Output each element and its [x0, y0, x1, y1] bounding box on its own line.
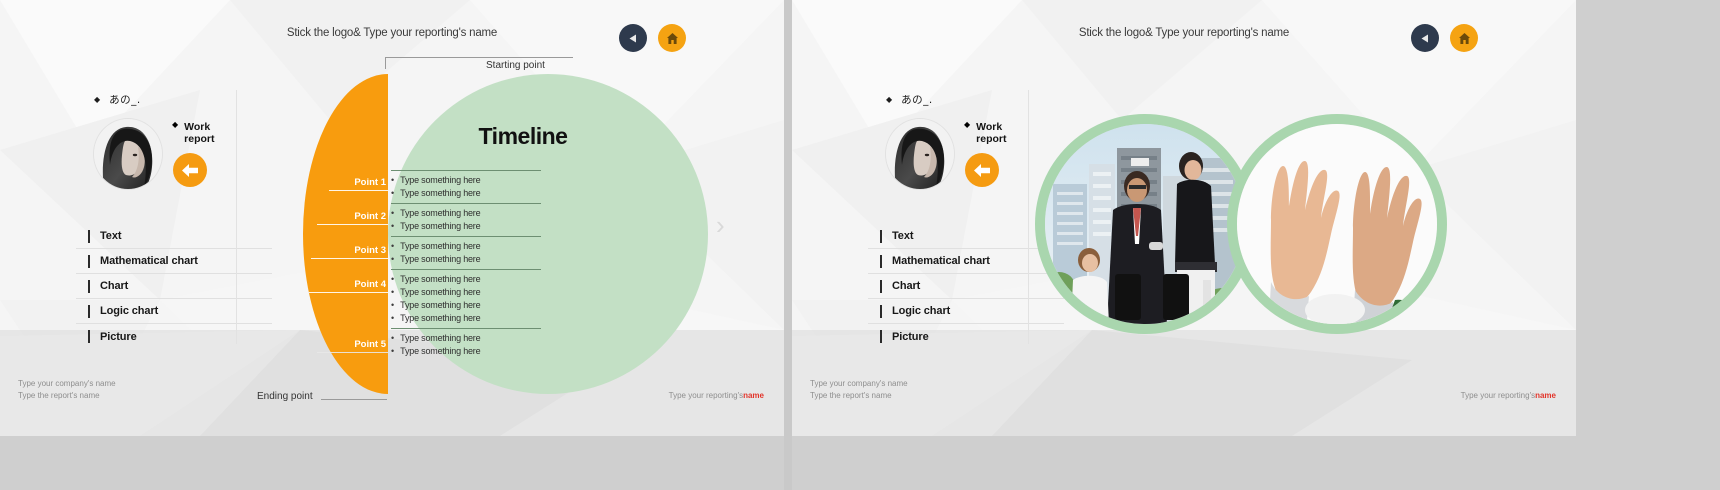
back-button[interactable]: [1411, 24, 1439, 52]
sidebar-item-label: Text: [892, 230, 913, 242]
footer-company: Type your company's name: [810, 378, 908, 390]
footer-right-accent: name: [1535, 391, 1556, 400]
header-buttons: [619, 24, 686, 52]
bullet-icon: •: [391, 345, 394, 358]
bullet-icon: •: [391, 253, 394, 266]
back-button[interactable]: [619, 24, 647, 52]
sidebar-item-label: Mathematical chart: [892, 255, 990, 267]
sidebar-item-label: Picture: [892, 331, 929, 343]
sidebar-jp-label: あの_.: [901, 92, 933, 107]
bar-icon: [880, 255, 882, 268]
diamond-icon: ◆: [886, 96, 892, 104]
left-arrow-icon: [972, 162, 992, 179]
slide-deck-viewer: Stick the logo& Type your reporting's na…: [0, 0, 1720, 490]
left-triangle-icon: [628, 33, 639, 44]
sidebar-item-label: Chart: [100, 280, 128, 292]
sidebar-menu: Text Mathematical chart Chart Logic char…: [76, 224, 272, 349]
work-report-block: ◆ Work report: [964, 121, 1007, 146]
footer-report: Type the report's name: [810, 390, 908, 402]
sidebar-item-logic-chart[interactable]: Logic chart: [76, 299, 272, 324]
avatar: [886, 119, 954, 189]
sidebar-divider: [236, 90, 237, 344]
bullet-icon: •: [391, 312, 394, 325]
work-report-line2: report: [976, 133, 1006, 145]
work-report-line1: Work: [184, 121, 210, 133]
sidebar-item-text[interactable]: Text: [76, 224, 272, 249]
bar-icon: [88, 255, 90, 268]
work-report-line1: Work: [976, 121, 1002, 133]
bar-icon: [880, 230, 882, 243]
home-icon: [666, 32, 679, 45]
timeline-item: Type something here: [400, 273, 480, 286]
timeline-block: •Type something here •Type something her…: [391, 269, 541, 325]
picture-frame: [1237, 124, 1437, 324]
home-button[interactable]: [658, 24, 686, 52]
home-icon: [1458, 32, 1471, 45]
footer-left: Type your company's name Type the report…: [810, 378, 908, 402]
bar-icon: [88, 305, 90, 318]
work-report-line2: report: [184, 133, 214, 145]
timeline-graphic: Starting point Timeline Point 1 Point 2 …: [303, 57, 633, 397]
timeline-point-3: Point 3: [354, 245, 386, 256]
bar-icon: [880, 330, 882, 343]
bullet-icon: •: [391, 286, 394, 299]
footer-company: Type your company's name: [18, 378, 116, 390]
footer-right-prefix: Type your reporting's: [669, 391, 743, 400]
picture-circle-right[interactable]: [1227, 114, 1447, 334]
timeline-item: Type something here: [400, 187, 480, 200]
footer-right-prefix: Type your reporting's: [1461, 391, 1535, 400]
sidebar-item-label: Chart: [892, 280, 920, 292]
business-people-photo: [1045, 124, 1245, 324]
avatar-row: ◆ Work report: [76, 115, 272, 193]
timeline-block: •Type something here •Type something her…: [391, 203, 541, 233]
timeline-block: •Type something here •Type something her…: [391, 236, 541, 266]
back-arrow-button[interactable]: [173, 153, 207, 187]
timeline-item: Type something here: [400, 312, 480, 325]
timeline-point-5: Point 5: [354, 339, 386, 350]
bullet-icon: •: [391, 174, 394, 187]
left-arrow-icon: [180, 162, 200, 179]
timeline-item: Type something here: [400, 286, 480, 299]
slide-timeline[interactable]: Stick the logo& Type your reporting's na…: [0, 0, 784, 436]
slide-gap: [784, 0, 792, 490]
bar-icon: [88, 330, 90, 343]
timeline-points: Point 1 Point 2 Point 3 Point 4 Point 5: [303, 74, 388, 394]
sidebar-item-label: Mathematical chart: [100, 255, 198, 267]
left-triangle-icon: [1420, 33, 1431, 44]
sidebar-top: ◆ あの_.: [76, 92, 272, 193]
sidebar-jp-row: ◆ あの_.: [868, 92, 1064, 107]
picture-frame: [1045, 124, 1245, 324]
bullet-icon: •: [391, 207, 394, 220]
next-slide-arrow[interactable]: ›: [716, 210, 725, 241]
portrait-photo: [94, 119, 162, 189]
timeline-title: Timeline: [423, 123, 623, 150]
slide-bottom-band: [792, 436, 1576, 490]
footer-right: Type your reporting'sname: [1461, 391, 1556, 400]
sidebar-jp-row: ◆ あの_.: [76, 92, 272, 107]
timeline-block: •Type something here •Type something her…: [391, 328, 541, 358]
picture-circle-left[interactable]: [1035, 114, 1255, 334]
slide-bottom-band: [0, 436, 784, 490]
bullet-icon: •: [391, 299, 394, 312]
timeline-item: Type something here: [400, 207, 480, 220]
bar-icon: [880, 280, 882, 293]
footer-report: Type the report's name: [18, 390, 116, 402]
sidebar-item-label: Logic chart: [892, 305, 950, 317]
timeline-point-2: Point 2: [354, 211, 386, 222]
bullet-icon: •: [391, 220, 394, 233]
diamond-icon: ◆: [94, 96, 100, 104]
sidebar-item-chart[interactable]: Chart: [76, 274, 272, 299]
bar-icon: [88, 230, 90, 243]
footer-left: Type your company's name Type the report…: [18, 378, 116, 402]
timeline-blocks: •Type something here •Type something her…: [391, 170, 541, 361]
footer-right: Type your reporting'sname: [669, 391, 764, 400]
timeline-block: •Type something here •Type something her…: [391, 170, 541, 200]
sidebar-item-label: Picture: [100, 331, 137, 343]
timeline-item: Type something here: [400, 253, 480, 266]
sidebar-divider: [1028, 90, 1029, 344]
timeline-point-1: Point 1: [354, 177, 386, 188]
slide-pictures[interactable]: Stick the logo& Type your reporting's na…: [792, 0, 1576, 436]
raised-hands-photo: [1237, 124, 1437, 324]
ending-point-connector: [321, 399, 387, 400]
footer-right-accent: name: [743, 391, 764, 400]
work-report-label: Work report: [184, 121, 214, 146]
timeline-item: Type something here: [400, 240, 480, 253]
sidebar-item-picture[interactable]: Picture: [76, 324, 272, 349]
bullet-icon: •: [391, 273, 394, 286]
timeline-item: Type something here: [400, 332, 480, 345]
work-report-block: ◆ Work report: [172, 121, 215, 146]
back-arrow-button[interactable]: [965, 153, 999, 187]
slide-2-wrapper: Stick the logo& Type your reporting's na…: [792, 0, 1576, 490]
starting-point-label: Starting point: [482, 60, 545, 71]
bullet-icon: •: [391, 240, 394, 253]
sidebar-jp-label: あの_.: [109, 92, 141, 107]
slide-1-wrapper: Stick the logo& Type your reporting's na…: [0, 0, 784, 490]
bullet-icon: •: [391, 332, 394, 345]
work-report-label: Work report: [976, 121, 1006, 146]
bar-icon: [88, 280, 90, 293]
header-buttons: [1411, 24, 1478, 52]
portrait-photo: [886, 119, 954, 189]
timeline-item: Type something here: [400, 299, 480, 312]
sidebar-item-label: Logic chart: [100, 305, 158, 317]
diamond-icon: ◆: [172, 121, 178, 129]
diamond-icon: ◆: [964, 121, 970, 129]
bar-icon: [880, 305, 882, 318]
timeline-item: Type something here: [400, 220, 480, 233]
ending-point-label: Ending point: [257, 391, 313, 402]
timeline-item: Type something here: [400, 174, 480, 187]
bullet-icon: •: [391, 187, 394, 200]
timeline-item: Type something here: [400, 345, 480, 358]
sidebar-item-mathematical-chart[interactable]: Mathematical chart: [76, 249, 272, 274]
avatar: [94, 119, 162, 189]
sidebar-item-label: Text: [100, 230, 121, 242]
timeline-point-4: Point 4: [354, 279, 386, 290]
home-button[interactable]: [1450, 24, 1478, 52]
picture-group: [1035, 114, 1505, 344]
